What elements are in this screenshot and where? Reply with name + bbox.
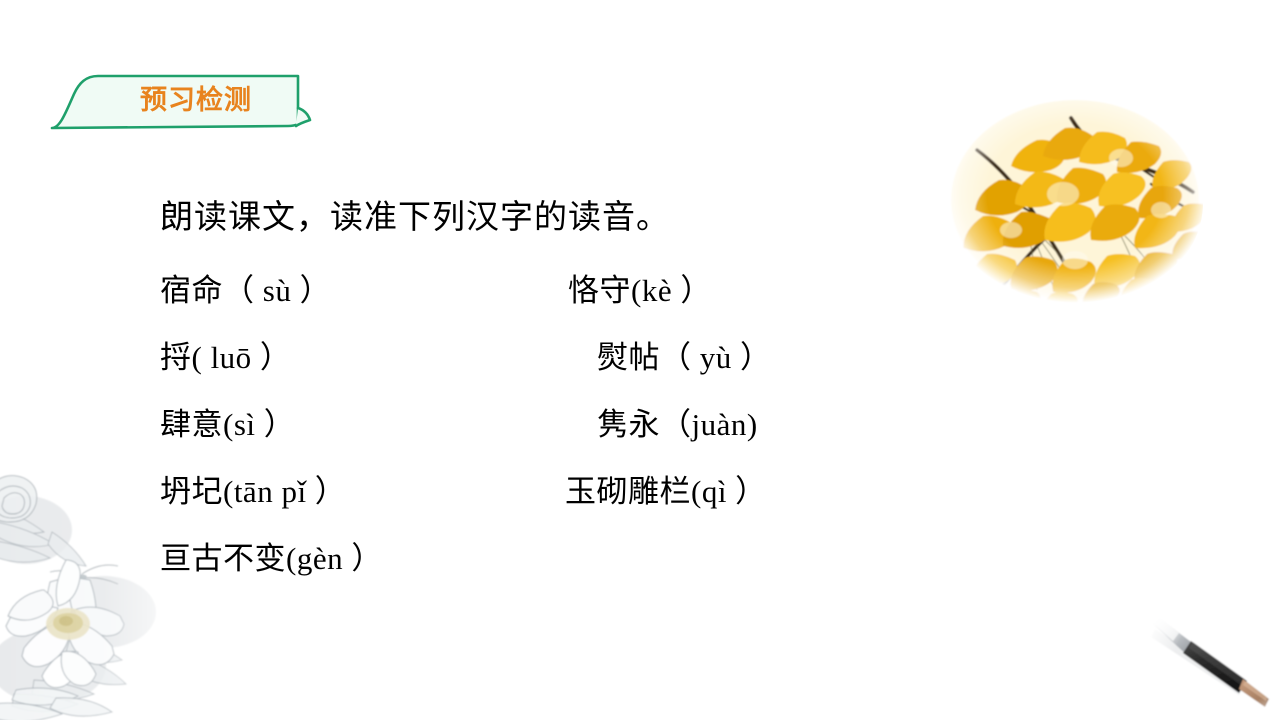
word-item-tanpi: 坍圮(tān pǐ ） [160,466,565,511]
pinyin-word-list: 宿命（ sù ） 恪守(kè ） 捋( luō ） 熨帖（ yù ） 肆意(sì… [160,265,920,600]
content-block: 朗读课文，读准下列汉字的读音。 宿命（ sù ） 恪守(kè ） 捋( luō … [160,198,920,600]
word-item-siyi: 肆意(sì ） [160,399,565,444]
section-title-text: 预习检测 [46,62,322,132]
instruction-text: 朗读课文，读准下列汉字的读音。 [160,198,920,239]
word-row: 坍圮(tān pǐ ） 玉砌雕栏(qì ） [160,466,920,533]
word-item-keshou: 恪守(kè ） [565,265,920,310]
word-row: 亘古不变(gèn ） [160,533,920,600]
word-item-yutie: 熨帖（ yù ） [565,332,920,377]
slide-canvas: 预习检测 朗读课文，读准下列汉字的读音。 宿命（ sù ） 恪守(kè ） 捋(… [0,0,1280,720]
ginkgo-leaves-image [925,88,1225,338]
word-row: 捋( luō ） 熨帖（ yù ） [160,332,920,399]
word-item-luo: 捋( luō ） [160,332,565,377]
word-row: 宿命（ sù ） 恪守(kè ） [160,265,920,332]
pen-image [1135,595,1280,720]
word-item-sumìng: 宿命（ sù ） [160,265,565,310]
word-item-yuqidiaolan: 玉砌雕栏(qì ） [565,466,920,511]
word-row: 肆意(sì ） 隽永（juàn) [160,399,920,466]
word-item-genggububian: 亘古不变(gèn ） [160,533,565,578]
word-item-juanyong: 隽永（juàn) [565,399,920,444]
section-title-banner: 预习检测 [46,62,322,140]
